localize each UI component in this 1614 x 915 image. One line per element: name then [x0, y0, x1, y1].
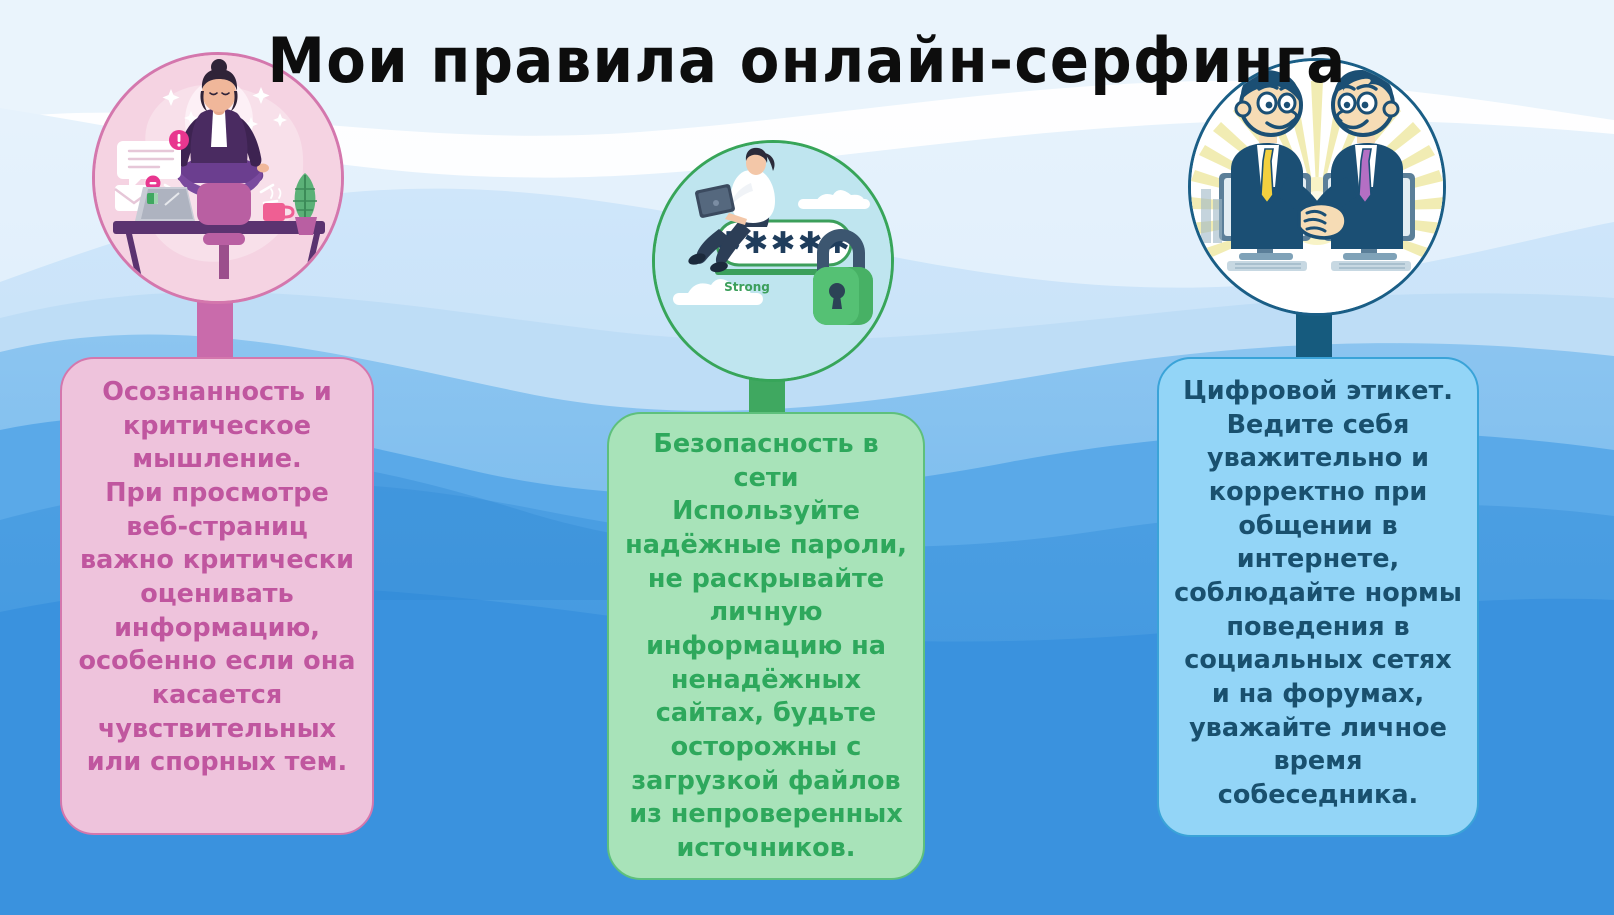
rule-card-security-text: Безопасность в сети Используйте надёжные… [621, 428, 911, 866]
strong-password-illustration: ✱✱✱✱✱ Strong [655, 143, 891, 379]
strength-label: Strong [724, 280, 770, 294]
infographic-poster: Мои правила онлайн-серфинга [0, 0, 1614, 915]
handshake [1299, 204, 1346, 238]
rule-card-mindfulness-text: Осознанность и критическое мышление. При… [72, 376, 362, 780]
illustration-circle-password: ✱✱✱✱✱ Strong [652, 140, 894, 382]
rule-card-security: Безопасность в сети Используйте надёжные… [607, 412, 925, 880]
rule-card-etiquette-text: Цифровой этикет. Ведите себя уважительно… [1169, 375, 1467, 813]
laptop-icon [135, 187, 195, 221]
handshake-over-monitors-illustration [1191, 61, 1443, 313]
page-title: Мои правила онлайн-серфинга [56, 28, 1557, 93]
rule-card-etiquette: Цифровой этикет. Ведите себя уважительно… [1157, 357, 1479, 837]
rule-card-mindfulness: Осознанность и критическое мышление. При… [60, 357, 374, 835]
